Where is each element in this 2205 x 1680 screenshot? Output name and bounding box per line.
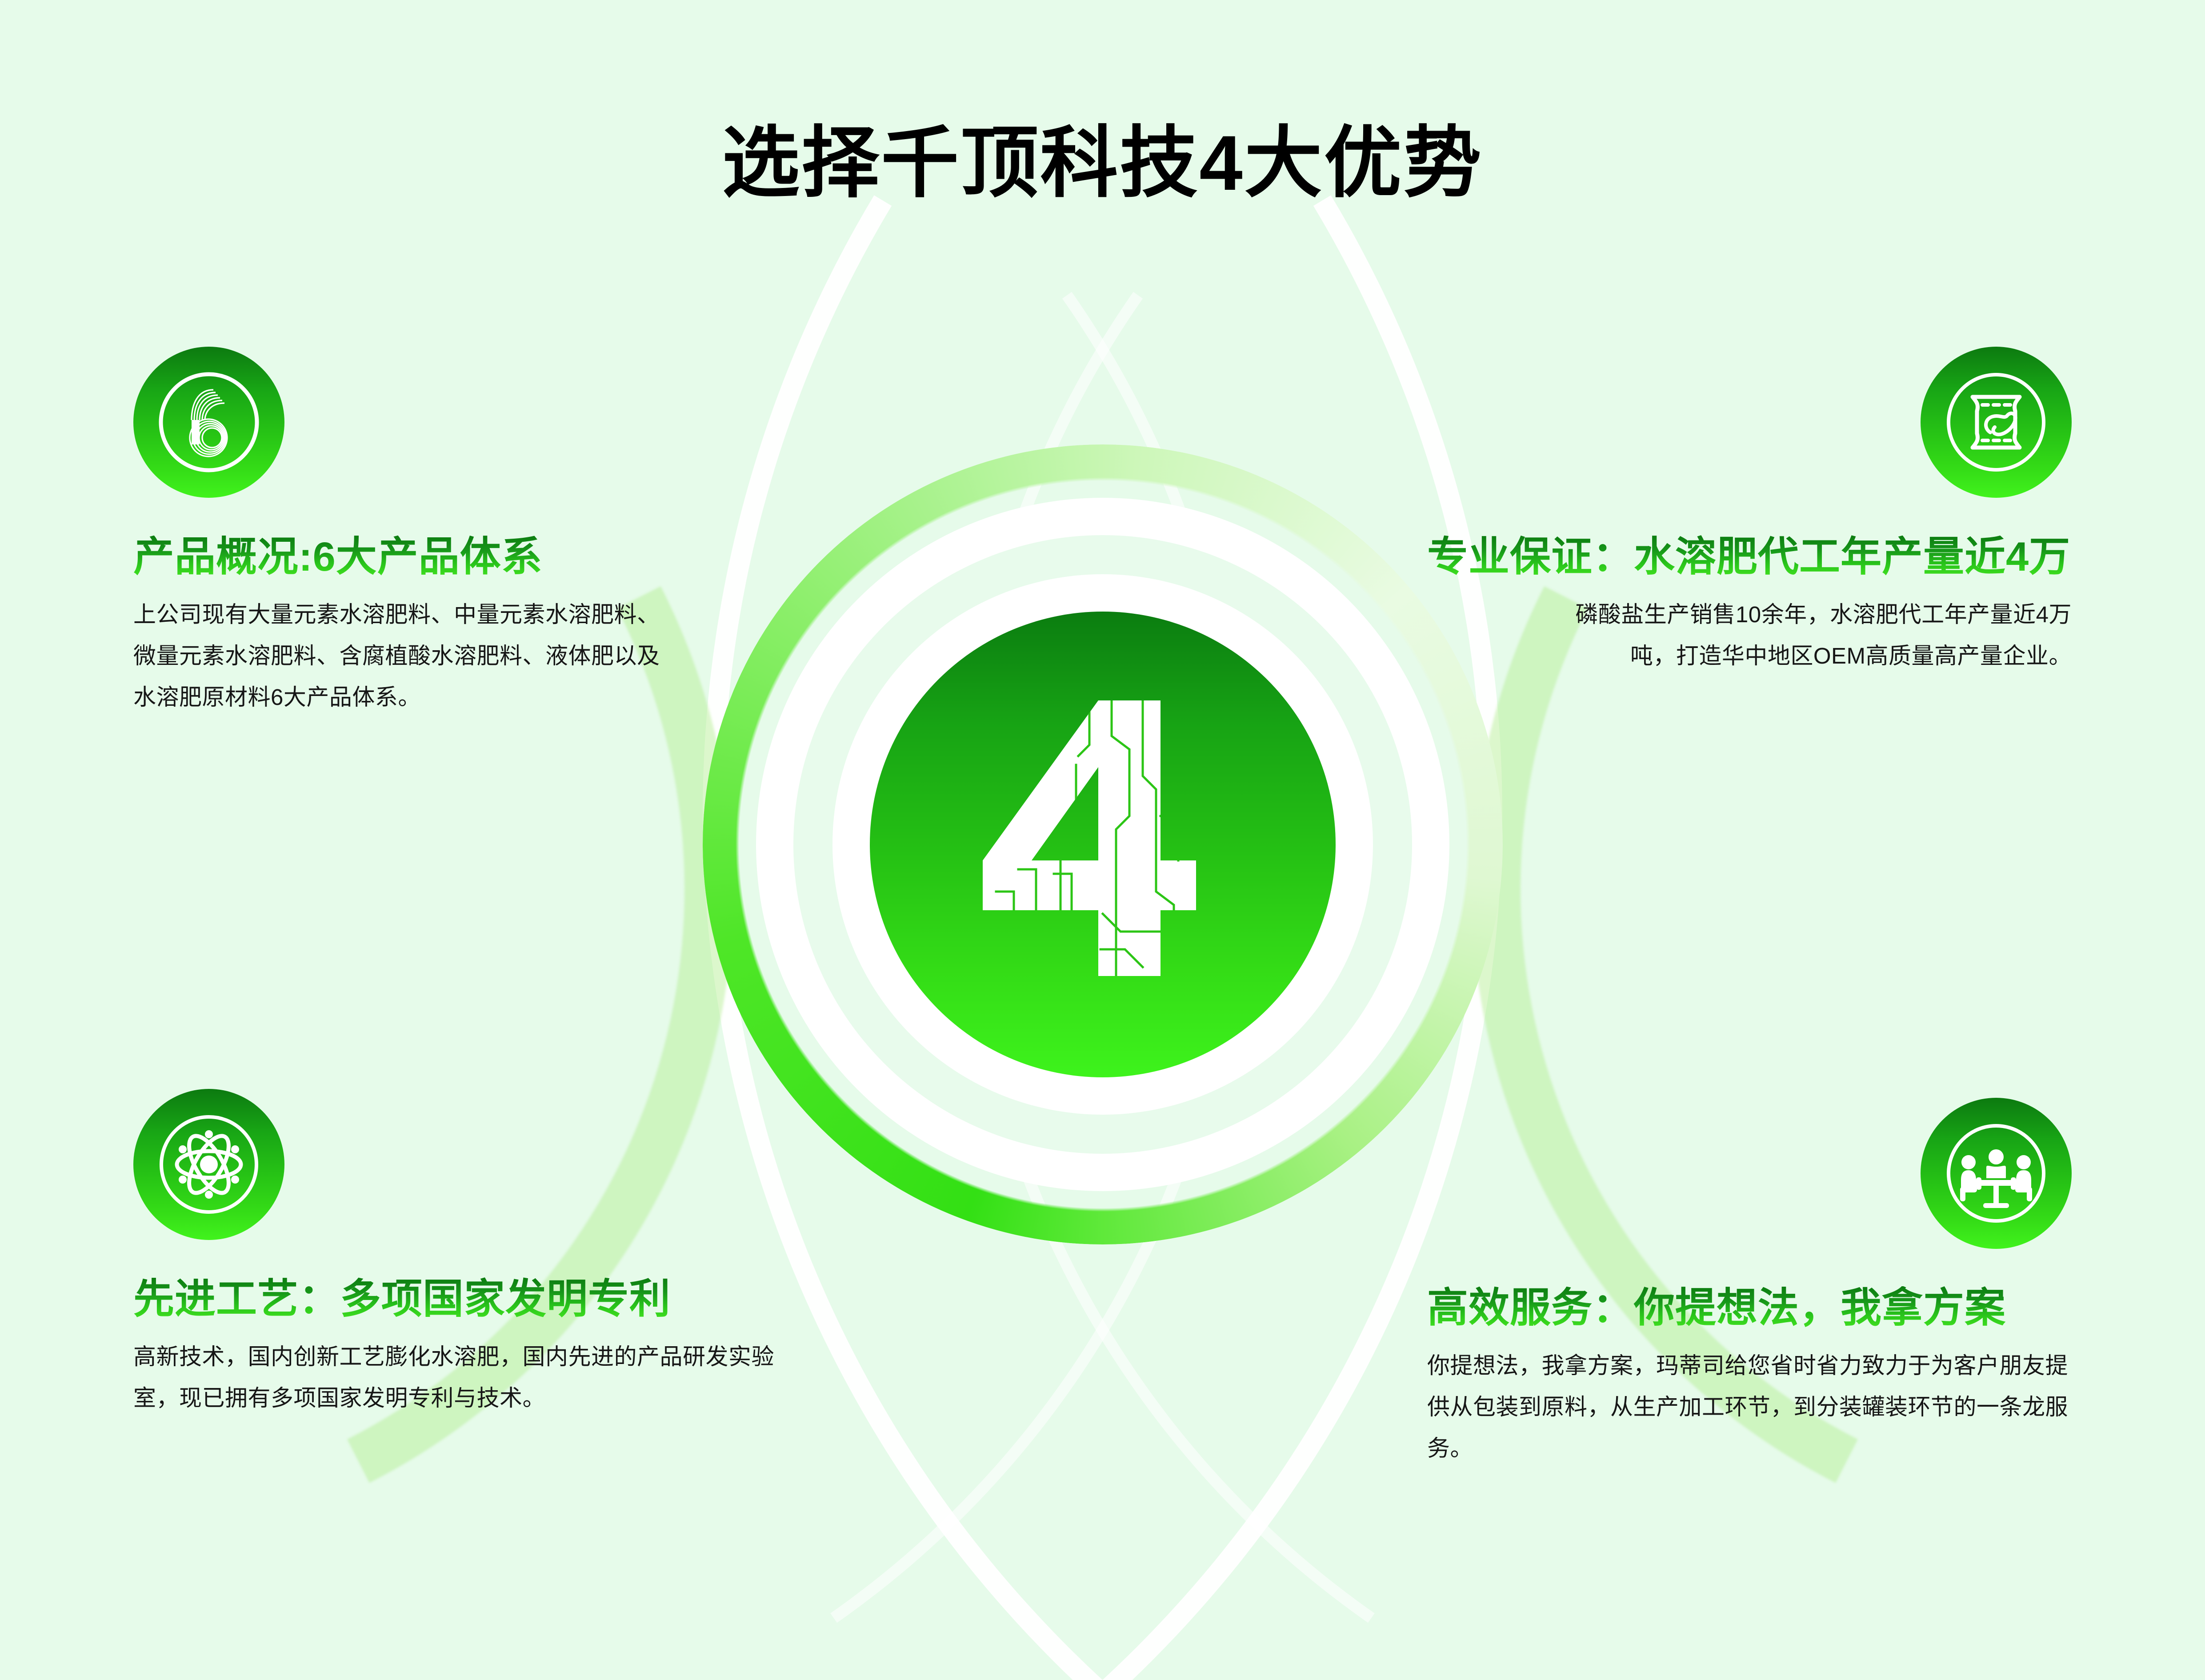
meeting-people-glyph	[1941, 1118, 2052, 1229]
advantage-title: 专业保证：水溶肥代工年产量近4万吨	[1427, 535, 2072, 579]
advantage-body: 高新技术，国内创新工艺膨化水溶肥，国内先进的产品研发实验室，现已拥有多项国家发明…	[133, 1336, 778, 1419]
center-green-disc	[870, 612, 1336, 1077]
advantage-body: 上公司现有大量元素水溶肥料、中量元素水溶肥料、微量元素水溶肥料、含腐植酸水溶肥料…	[133, 594, 662, 718]
fertilizer-bag-glyph	[1941, 367, 2052, 478]
advantage-body: 磷酸盐生产销售10余年，水溶肥代工年产量近4万吨，打造华中地区OEM高质量高产量…	[1543, 594, 2072, 677]
advantage-body: 你提想法，我拿方案，玛蒂司给您省时省力致力于为客户朋友提供从包装到原料，从生产加…	[1427, 1345, 2072, 1469]
number-six-rings-glyph	[153, 367, 264, 478]
meeting-people-icon	[1921, 1098, 2072, 1249]
advantage-block-top-right: 专业保证：水溶肥代工年产量近4万吨 磷酸盐生产销售10余年，水溶肥代工年产量近4…	[1427, 347, 2072, 677]
advantage-title: 高效服务：你提想法，我拿方案	[1427, 1286, 2072, 1330]
page-title: 选择千顶科技4大优势	[0, 100, 2205, 212]
infographic-canvas: 选择千顶科技4大优势	[0, 0, 2205, 1680]
advantage-title: 先进工艺：多项国家发明专利	[133, 1277, 778, 1321]
advantage-title: 产品概况:6大产品体系	[133, 535, 778, 579]
fertilizer-bag-icon	[1921, 347, 2072, 498]
advantage-block-bottom-left: 先进工艺：多项国家发明专利 高新技术，国内创新工艺膨化水溶肥，国内先进的产品研发…	[133, 1089, 778, 1419]
number-six-rings-icon	[133, 347, 284, 498]
advantage-block-top-left: 产品概况:6大产品体系 上公司现有大量元素水溶肥料、中量元素水溶肥料、微量元素水…	[133, 347, 778, 718]
number-four-tech-glyph	[965, 683, 1241, 994]
atom-glyph	[153, 1109, 264, 1220]
atom-icon	[133, 1089, 284, 1240]
advantage-block-bottom-right: 高效服务：你提想法，我拿方案 你提想法，我拿方案，玛蒂司给您省时省力致力于为客户…	[1427, 1098, 2072, 1469]
